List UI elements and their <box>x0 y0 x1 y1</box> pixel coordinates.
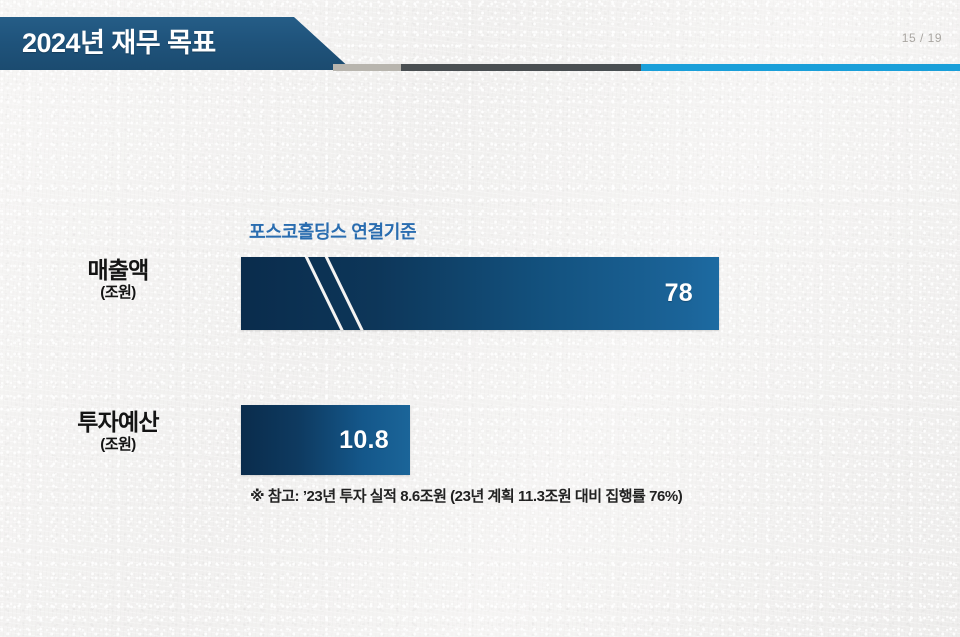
chart-subtitle: 포스코홀딩스 연결기준 <box>249 218 416 244</box>
bar-label-investment-name: 투자예산 <box>18 410 218 435</box>
bar-label-investment-unit: (조원) <box>18 436 218 454</box>
bar-value-investment: 10.8 <box>339 426 389 455</box>
header-rule-cyan <box>641 64 960 71</box>
bar-value-revenue: 78 <box>665 279 693 308</box>
bar-label-revenue: 매출액 (조원) <box>18 258 218 302</box>
bar-label-revenue-unit: (조원) <box>18 284 218 302</box>
chart-footnote: ※ 참고: ’23년 투자 실적 8.6조원 (23년 계획 11.3조원 대비… <box>250 485 682 506</box>
header-rule-gray <box>333 64 401 71</box>
page-number: 15 / 19 <box>902 31 942 45</box>
bar-revenue: 78 <box>241 257 719 330</box>
slide-header: 2024년 재무 목표 15 / 19 <box>0 0 960 80</box>
header-rule-dark <box>401 64 641 71</box>
title-banner: 2024년 재무 목표 <box>0 17 352 70</box>
page-title: 2024년 재무 목표 <box>22 30 216 57</box>
bar-label-investment: 투자예산 (조원) <box>18 410 218 454</box>
bar-label-revenue-name: 매출액 <box>18 258 218 283</box>
chart-area: 포스코홀딩스 연결기준 매출액 (조원) 78 투자예산 (조원) 10.8 ※… <box>0 80 960 637</box>
axis-break-icon <box>241 257 719 330</box>
bar-investment: 10.8 <box>241 405 410 475</box>
